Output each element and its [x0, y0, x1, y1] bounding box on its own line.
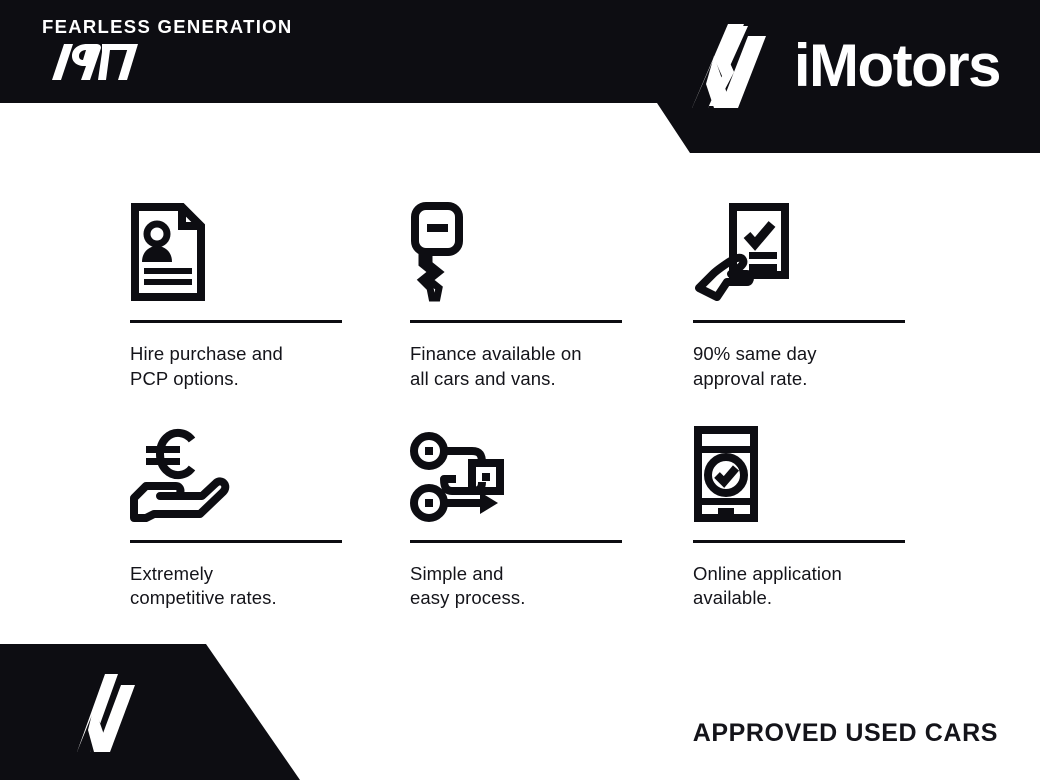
feature-item-online-application: Online application available.: [693, 414, 908, 612]
footer-tagline: APPROVED USED CARS: [693, 719, 998, 748]
imotors-chevron-logo-icon: [684, 22, 776, 110]
process-flowchart-icon: [410, 414, 693, 526]
feature-grid: Hire purchase and PCP options. Finance a…: [130, 186, 920, 611]
divider-rule: [410, 320, 622, 323]
feature-item-finance-available: Finance available on all cars and vans.: [410, 186, 693, 392]
feature-caption: Extremely competitive rates.: [130, 562, 410, 612]
feature-item-simple-process: Simple and easy process.: [410, 414, 693, 612]
brand-name: iMotors: [794, 36, 1000, 96]
euro-in-hand-icon: [130, 414, 410, 526]
divider-rule: [130, 320, 342, 323]
divider-rule: [130, 540, 342, 543]
promo-page: FEARLESS GENERATION: [0, 0, 1040, 780]
feature-item-hire-purchase: Hire purchase and PCP options.: [130, 186, 410, 392]
car-key-icon: [410, 186, 693, 306]
feature-item-same-day-approval: 90% same day approval rate.: [693, 186, 908, 392]
feature-caption: Simple and easy process.: [410, 562, 693, 612]
imotors-chevron-logo-icon: [72, 672, 142, 754]
footer-banner: [0, 644, 300, 780]
hand-holding-checklist-icon: [693, 186, 908, 306]
feature-caption: 90% same day approval rate.: [693, 342, 908, 392]
fearless-generation-block: FEARLESS GENERATION: [42, 18, 293, 85]
brand-lockup: iMotors: [684, 22, 1000, 110]
feature-caption: Online application available.: [693, 562, 908, 612]
divider-rule: [693, 540, 905, 543]
smartphone-check-icon: [693, 414, 908, 526]
year-1971-logo: [42, 44, 138, 80]
header-tagline: FEARLESS GENERATION: [42, 18, 293, 37]
feature-caption: Finance available on all cars and vans.: [410, 342, 693, 392]
divider-rule: [410, 540, 622, 543]
feature-item-competitive-rates: Extremely competitive rates.: [130, 414, 410, 612]
feature-caption: Hire purchase and PCP options.: [130, 342, 410, 392]
cv-document-person-icon: [130, 186, 410, 306]
divider-rule: [693, 320, 905, 323]
